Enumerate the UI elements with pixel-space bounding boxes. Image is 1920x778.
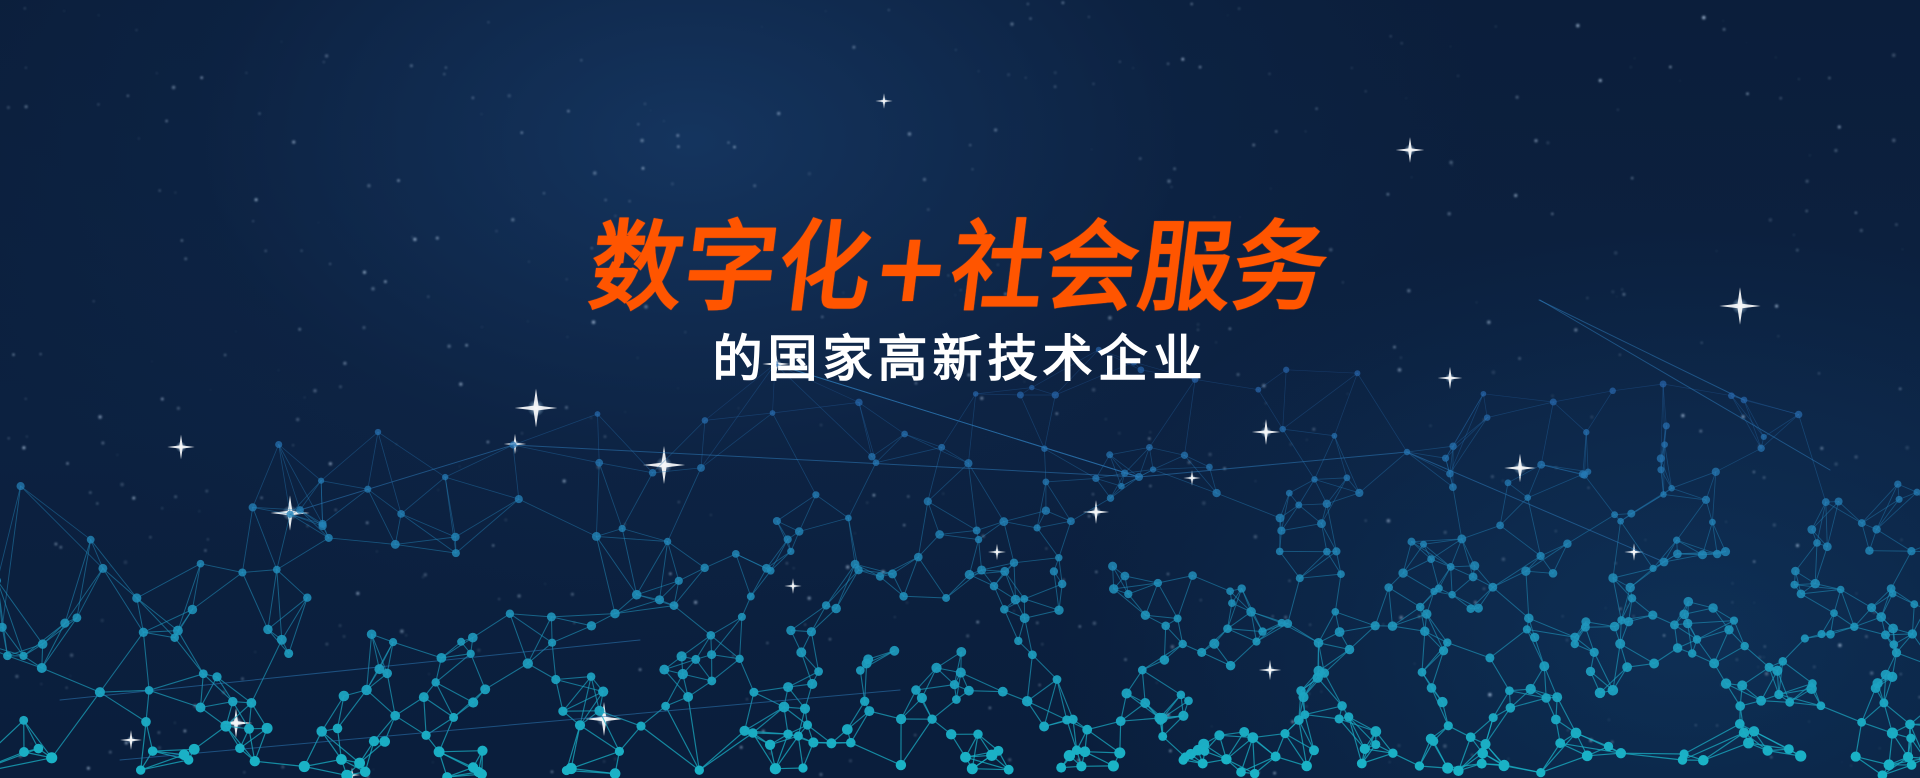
page-title: 数字化+社会服务	[585, 219, 1334, 317]
banner-text-layer: 数字化+社会服务 的国家高新技术企业	[0, 0, 1920, 778]
page-subtitle: 的国家高新技术企业	[713, 334, 1208, 384]
hero-banner: 数字化+社会服务 的国家高新技术企业	[0, 0, 1920, 778]
